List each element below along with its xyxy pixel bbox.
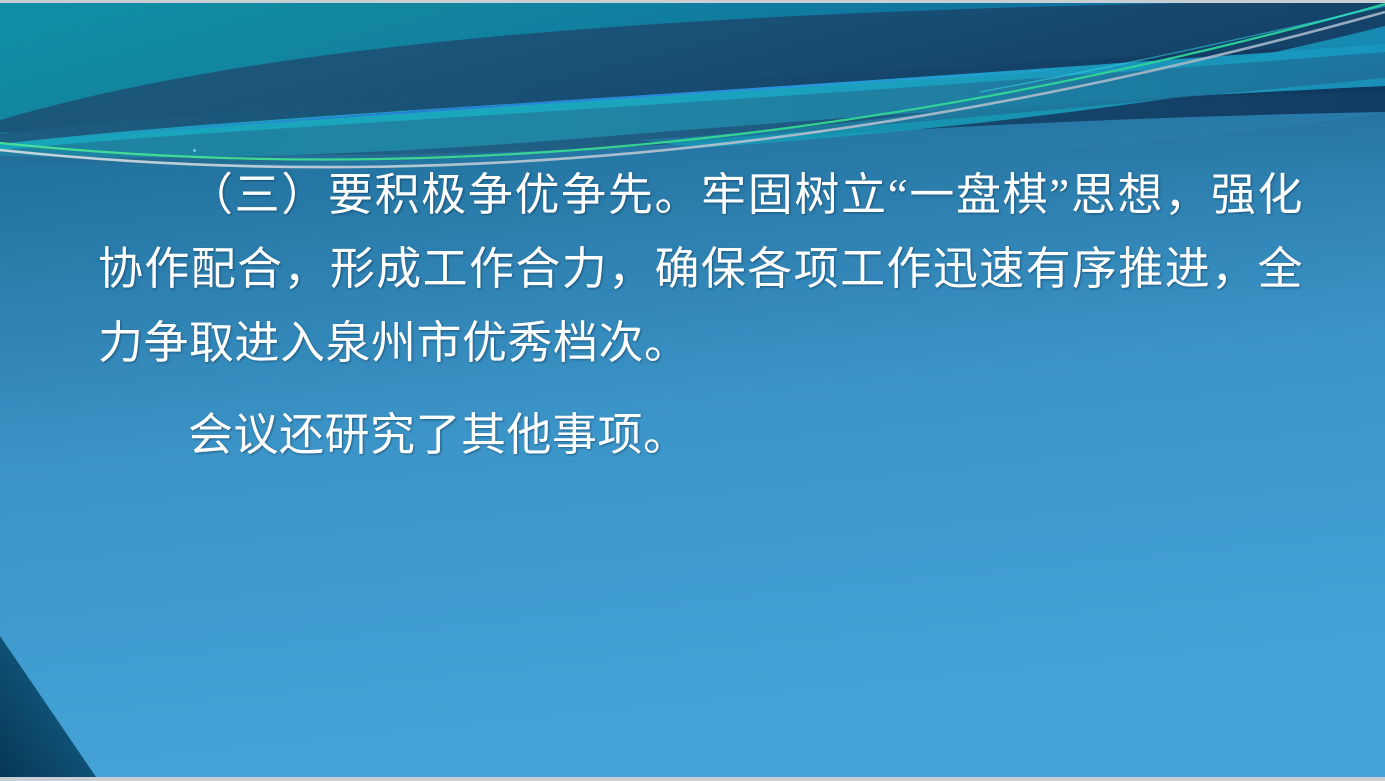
slide-canvas: （三）要积极争优争先。牢固树立“一盘棋”思想，强化协作配合，形成工作合力，确保各… [0, 0, 1385, 781]
body-paragraph-1: （三）要积极争优争先。牢固树立“一盘棋”思想，强化协作配合，形成工作合力，确保各… [98, 158, 1303, 380]
slide-body-text: （三）要积极争优争先。牢固树立“一盘棋”思想，强化协作配合，形成工作合力，确保各… [98, 158, 1303, 472]
stray-highlight-dot [193, 149, 196, 152]
body-paragraph-2: 会议还研究了其他事项。 [98, 398, 1303, 472]
